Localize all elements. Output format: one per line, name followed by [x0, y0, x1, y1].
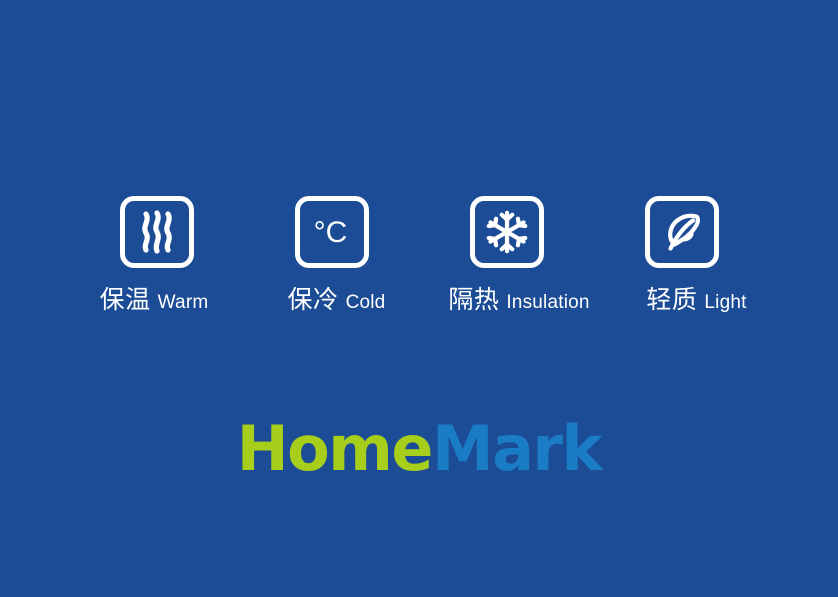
label-insulation-cn: 隔热: [448, 287, 499, 312]
feature-icon-row: °C: [0, 196, 838, 268]
celsius-degree-label: °C: [314, 218, 348, 248]
brand-wordmark-mark: Mark: [432, 412, 601, 485]
brand-wordmark: HomeMark: [0, 418, 838, 480]
feature-light: [645, 196, 719, 268]
label-insulation-en: Insulation: [506, 293, 589, 312]
snowflake-icon: [470, 196, 544, 268]
celsius-degree-icon: °C: [295, 196, 369, 268]
feature-cold: °C: [295, 196, 369, 268]
label-cold-en: Cold: [346, 293, 386, 312]
label-light: 轻质 Light: [614, 287, 779, 312]
label-warm-en: Warm: [158, 293, 209, 312]
feature-warm: [120, 196, 194, 268]
label-cold: 保冷 Cold: [249, 287, 424, 312]
label-light-en: Light: [704, 293, 746, 312]
label-warm: 保温 Warm: [59, 287, 249, 312]
label-warm-cn: 保温: [100, 287, 151, 312]
label-cold-cn: 保冷: [288, 287, 339, 312]
poster-canvas: °C: [0, 0, 838, 597]
label-light-cn: 轻质: [646, 287, 697, 312]
feature-label-row: 保温 Warm 保冷 Cold 隔热 Insulation 轻质 Light: [0, 287, 838, 312]
brand-wordmark-home: Home: [237, 412, 432, 485]
label-insulation: 隔热 Insulation: [424, 287, 614, 312]
feather-icon: [645, 196, 719, 268]
heat-waves-icon: [120, 196, 194, 268]
feature-insulation: [470, 196, 544, 268]
